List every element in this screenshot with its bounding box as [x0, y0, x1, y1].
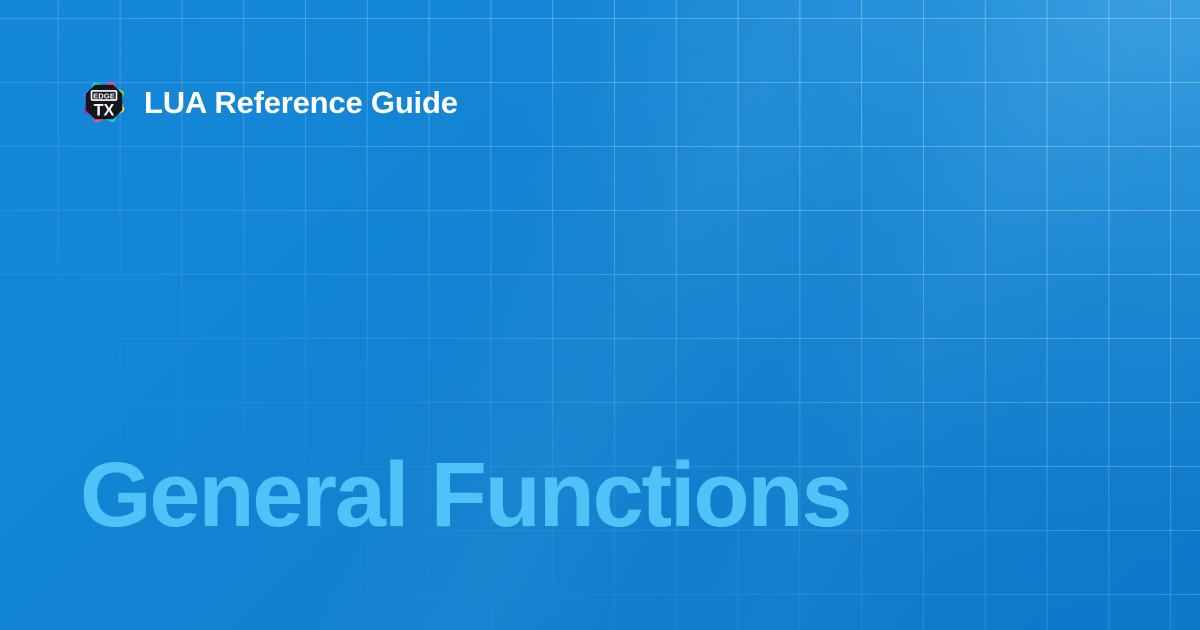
brand-title: LUA Reference Guide	[144, 87, 458, 118]
logo-tx-text: TX	[94, 101, 115, 119]
page-title: General Functions	[80, 447, 850, 544]
edgetx-logo-icon: EDGE TX	[80, 78, 128, 126]
social-card: EDGE TX LUA Reference Guide General Func…	[0, 0, 1200, 630]
logo-edge-text: EDGE	[93, 91, 115, 100]
brand-header: EDGE TX LUA Reference Guide	[80, 78, 458, 126]
